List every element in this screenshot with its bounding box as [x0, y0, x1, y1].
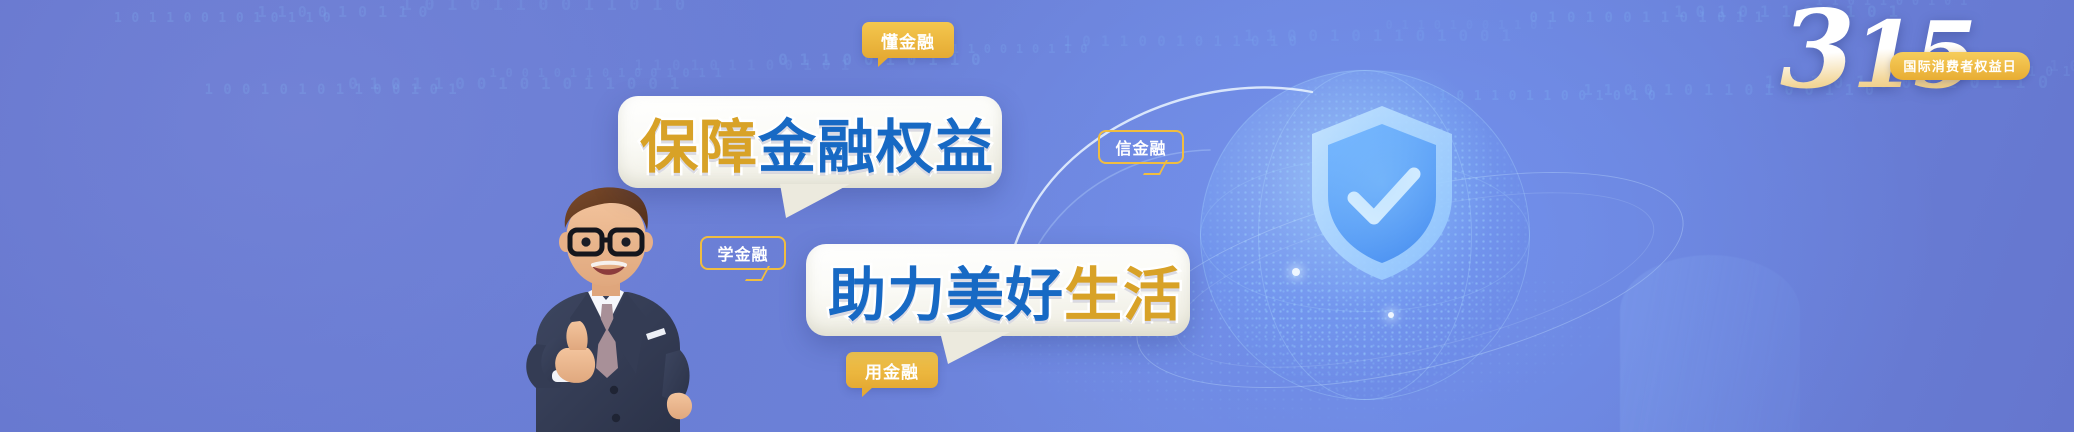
logo-badge-consumer-rights-day: 国际消费者权益日	[1890, 52, 2030, 80]
binary-code-column: 0 0 1 1 0 1 0 1 1 0 0 1 0	[539, 0, 765, 2]
tag-label: 用金融	[865, 358, 919, 383]
tag-yong-jinrong[interactable]: 用金融	[846, 352, 938, 388]
tag-label: 信金融	[1115, 135, 1166, 159]
tag-label: 学金融	[717, 241, 768, 265]
headline-bubble-primary: 保障 金融权益	[618, 96, 1002, 188]
shield-glow	[1262, 70, 1502, 320]
binary-code-column: 0 1 0 1 1 0 1 0 0 1 1 0 1	[1058, 34, 1302, 50]
headline-line-1: 保障 金融权益	[640, 100, 994, 184]
headline-line-2: 助力美好 生活	[828, 248, 1182, 332]
logo-digit-3: 3	[1780, 0, 1852, 113]
binary-code-column: 0 1 1 0 1 0 0 1 1	[252, 3, 433, 21]
binary-code-column: 1 0 1 1 0 0 1 0 1 1 0	[1381, 18, 1558, 32]
binary-code-column: 1 0 0 1 0 1 1 0 1 0 0 1 1	[1238, 26, 1517, 45]
bubble-tail	[936, 332, 1014, 366]
binary-code-column: 0 1 1 0 1 0 1 0 0 1 1 0 1	[109, 11, 335, 26]
binary-code-column: 0 1 0 1 1 0 0 1 1 0 1 0 1	[395, 0, 691, 15]
headline-line2-gold: 生活	[1064, 248, 1182, 332]
binary-code-column: 1 0 1 0 0 1 1 0 1 0 1 0 0 1	[199, 82, 462, 98]
banner-root: 1 0 1 0 0 1 1 0 1 0 1 0 0 1 1 0 1 0 10 1…	[0, 0, 2074, 432]
binary-code-background: 1 0 1 0 0 1 1 0 1 0 1 0 0 1 1 0 1 0 10 1…	[0, 0, 2074, 432]
headline-line1-blue: 金融权益	[758, 100, 994, 184]
headline-bubble-secondary: 助力美好 生活	[806, 244, 1190, 336]
binary-code-column: 1 0 1 0 0 1 1 0 1 0 1 1	[629, 58, 854, 74]
binary-code-column: 1 0 0 1 1 0 1 0 1 1 0 0 1	[2044, 57, 2074, 75]
binary-code-column: 1 1 0 1 0 0 1 0 1 1 0 1 0 0 1	[485, 66, 726, 80]
businessman-thumbs-up-illustration	[496, 178, 716, 432]
binary-code-column: 1 0 0 1 1 0 1 0 1 0 0 1 1 0 1 0	[342, 74, 685, 93]
tag-xue-jinrong[interactable]: 学金融	[700, 236, 786, 270]
tag-xin-jinrong[interactable]: 信金融	[1098, 130, 1184, 164]
binary-code-column: 1 1 0 1 0 1 1 0 0 1 0 1 0	[1524, 10, 1768, 26]
bubble-tail	[776, 184, 854, 220]
shield-check-icon	[1302, 100, 1462, 285]
tag-dong-jinrong[interactable]: 懂金融	[862, 22, 954, 58]
logo-315: 315 国际消费者权益日	[1780, 0, 2030, 106]
tag-label: 懂金融	[881, 28, 935, 53]
headline-line2-blue: 助力美好	[828, 248, 1064, 332]
headline-line1-gold: 保障	[640, 100, 758, 184]
abstract-cylinder-shape	[1620, 255, 1800, 432]
